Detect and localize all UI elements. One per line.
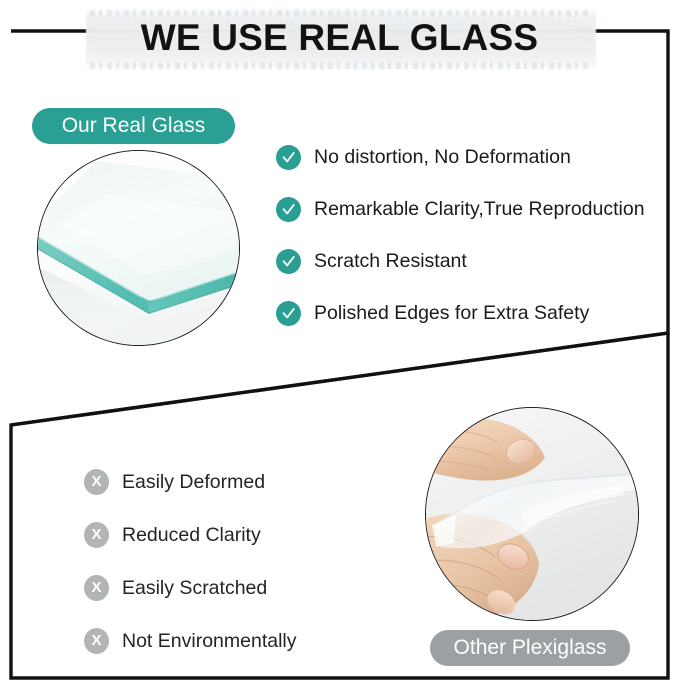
- disadvantages-list: X Easily Deformed X Reduced Clarity X Ea…: [84, 455, 414, 667]
- list-item: No distortion, No Deformation: [276, 131, 672, 183]
- x-icon: X: [84, 522, 109, 548]
- other-plexiglass-badge-label: Other Plexiglass: [454, 637, 607, 658]
- advantages-list: No distortion, No Deformation Remarkable…: [276, 131, 672, 339]
- product-comparison-infographic: WE USE REAL GLASS: [0, 0, 679, 691]
- list-item-label: No distortion, No Deformation: [314, 145, 571, 169]
- list-item: Remarkable Clarity,True Reproduction: [276, 183, 672, 235]
- list-item: Polished Edges for Extra Safety: [276, 287, 672, 339]
- hand-bending-plexiglass-photo: [425, 407, 639, 621]
- x-icon: X: [84, 628, 109, 654]
- check-icon: [276, 301, 301, 326]
- list-item-label: Scratch Resistant: [314, 249, 467, 273]
- other-plexiglass-badge: Other Plexiglass: [430, 630, 630, 666]
- real-glass-corner-photo: [37, 150, 240, 346]
- check-icon: [276, 145, 301, 170]
- list-item: X Easily Scratched: [84, 561, 414, 614]
- list-item-label: Remarkable Clarity,True Reproduction: [314, 197, 645, 221]
- our-real-glass-badge-label: Our Real Glass: [62, 115, 206, 136]
- check-icon: [276, 197, 301, 222]
- list-item-label: Reduced Clarity: [122, 523, 261, 547]
- list-item: X Not Environmentally: [84, 614, 414, 667]
- list-item: X Reduced Clarity: [84, 508, 414, 561]
- list-item-label: Easily Deformed: [122, 470, 265, 494]
- list-item: X Easily Deformed: [84, 455, 414, 508]
- list-item: Scratch Resistant: [276, 235, 672, 287]
- list-item-label: Polished Edges for Extra Safety: [314, 301, 589, 325]
- page-title: WE USE REAL GLASS: [0, 16, 679, 60]
- list-item-label: Not Environmentally: [122, 629, 297, 653]
- our-real-glass-badge: Our Real Glass: [32, 108, 235, 144]
- x-icon: X: [84, 575, 109, 601]
- list-item-label: Easily Scratched: [122, 576, 267, 600]
- check-icon: [276, 249, 301, 274]
- x-icon: X: [84, 469, 109, 495]
